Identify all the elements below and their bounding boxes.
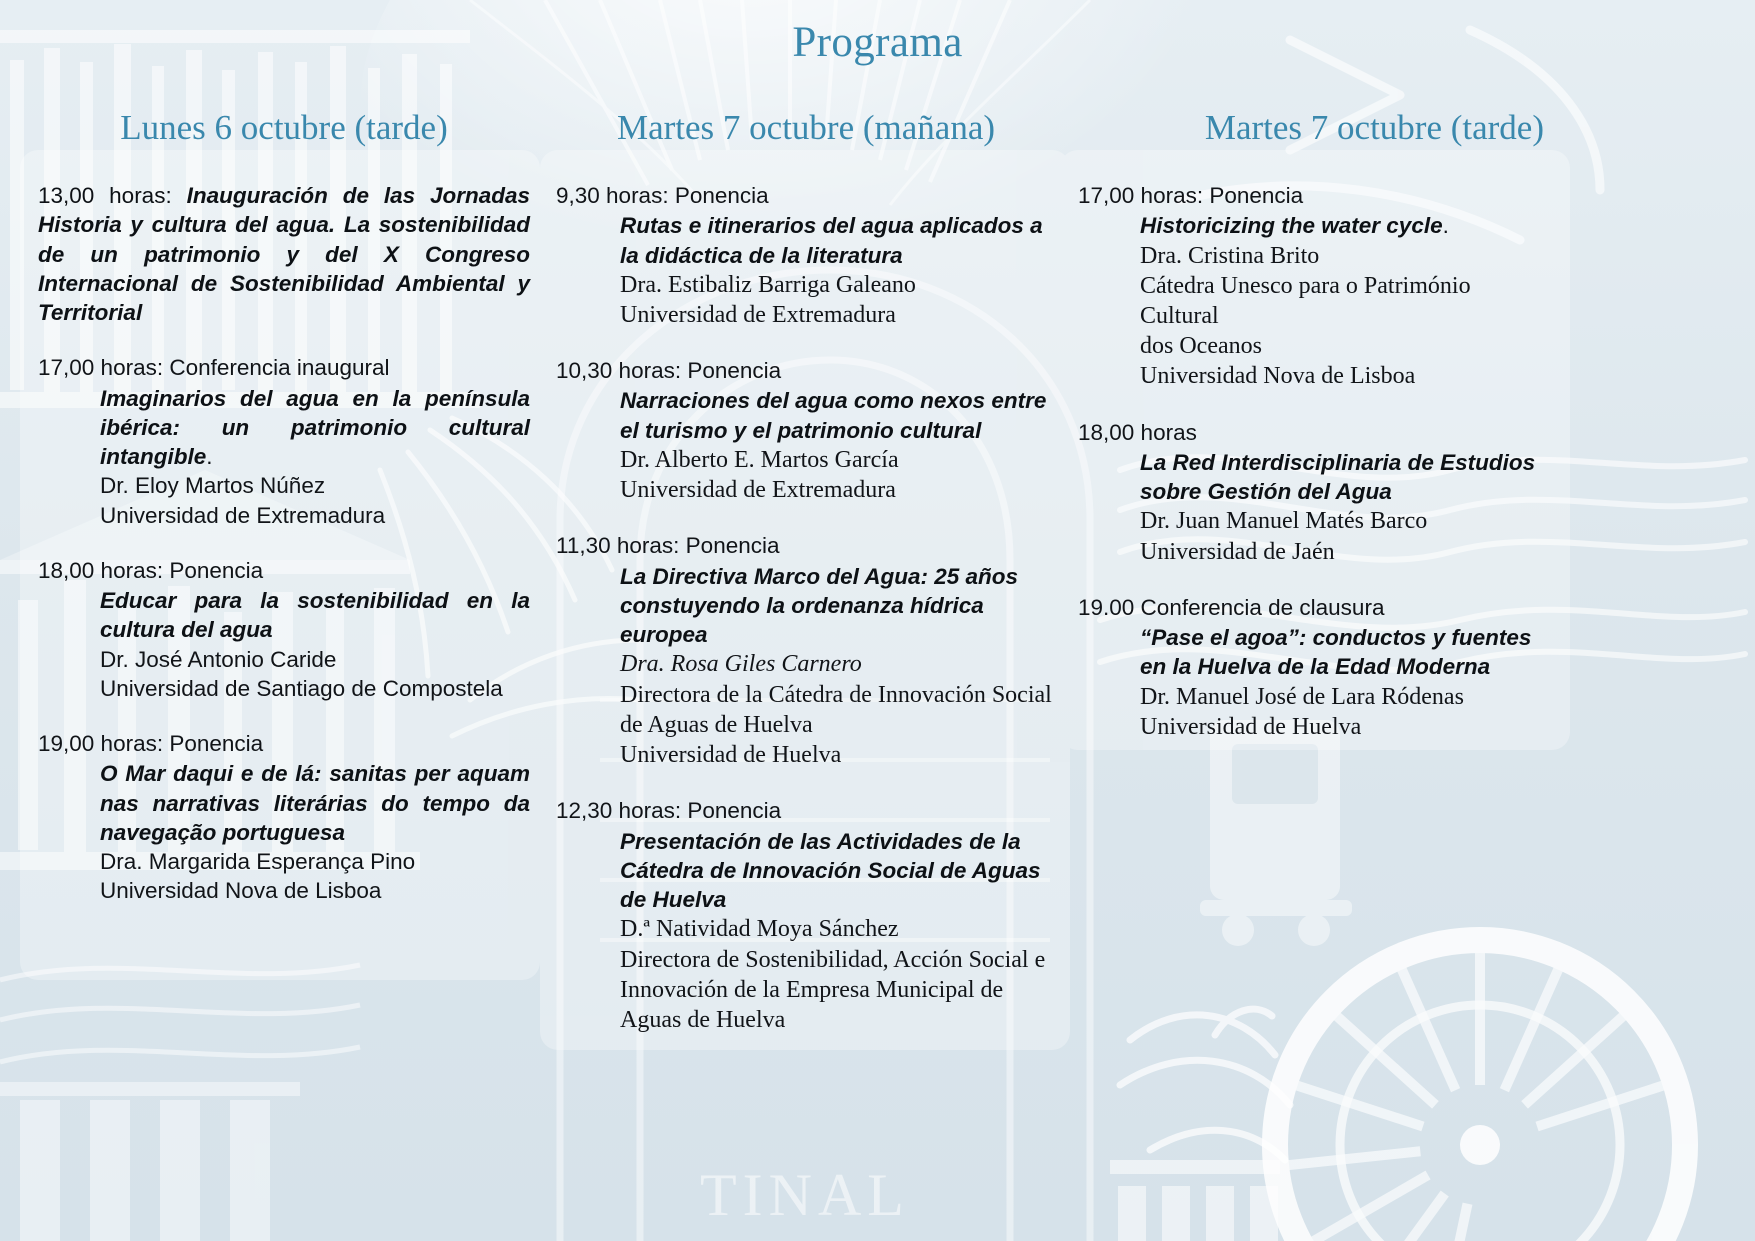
- entry-title-text: Historicizing the water cycle: [1140, 213, 1443, 238]
- entry-affiliation: Innovación de la Empresa Municipal de: [620, 975, 1056, 1005]
- entry-speaker: Dra. Rosa Giles Carnero: [620, 649, 1056, 679]
- entry-title: La Directiva Marco del Agua: 25 años con…: [620, 562, 1056, 650]
- entry-affiliation: Cátedra Unesco para o Património Cultura…: [1140, 271, 1548, 331]
- day-column-lunes-6-tarde: Lunes 6 octubre (tarde) 13,00 horas: Ina…: [38, 108, 530, 906]
- entry-affiliation: de Aguas de Huelva: [620, 710, 1056, 740]
- column-heading: Martes 7 octubre (mañana): [556, 108, 1056, 148]
- program-entry: 18,00 horas: Ponencia Educar para la sos…: [38, 556, 530, 703]
- entry-affiliation: Universidad de Extremadura: [620, 300, 1056, 330]
- entry-affiliation: Universidad de Extremadura: [100, 501, 530, 530]
- entry-body: Rutas e itinerarios del agua aplicados a…: [620, 211, 1056, 330]
- entry-title: Imaginarios del agua en la península ibé…: [100, 384, 530, 472]
- program-entry: 17,00 horas: Ponencia Historicizing the …: [1078, 181, 1548, 392]
- column-heading: Martes 7 octubre (tarde): [1078, 108, 1548, 148]
- entry-speaker: Dr. José Antonio Caride: [100, 645, 530, 674]
- entry-body: O Mar daqui e de lá: sanitas per aquam n…: [100, 759, 530, 905]
- entry-time: 10,30 horas: Ponencia: [556, 356, 1056, 385]
- entry-time: 11,30 horas: Ponencia: [556, 531, 1056, 560]
- entry-affiliation: Directora de la Cátedra de Innovación So…: [620, 680, 1056, 710]
- entry-title: 13,00 horas: Inauguración de las Jornada…: [38, 181, 530, 327]
- entry-time: 17,00 horas: Conferencia inaugural: [38, 353, 530, 382]
- entry-speaker: Dra. Estibaliz Barriga Galeano: [620, 270, 1056, 300]
- entry-title: Narraciones del agua como nexos entre el…: [620, 386, 1056, 445]
- program-poster: TINAL: [0, 0, 1755, 1241]
- entry-time: 18,00 horas: Ponencia: [38, 556, 530, 585]
- program-entry: 19,00 horas: Ponencia O Mar daqui e de l…: [38, 729, 530, 906]
- entry-affiliation: Universidad de Huelva: [620, 740, 1056, 770]
- entry-time: 18,00 horas: [1078, 418, 1548, 447]
- entry-title-text: Imaginarios del agua en la península ibé…: [100, 386, 530, 470]
- entry-body: La Red Interdisciplinaria de Estudios so…: [1140, 448, 1548, 567]
- entry-affiliation: Universidad Nova de Lisboa: [100, 876, 530, 905]
- entry-body: Imaginarios del agua en la península ibé…: [100, 384, 530, 530]
- entry-title-suffix: .: [1443, 213, 1449, 238]
- entry-speaker: Dra. Cristina Brito: [1140, 241, 1548, 271]
- entry-body: La Directiva Marco del Agua: 25 años con…: [620, 562, 1056, 771]
- program-entry: 12,30 horas: Ponencia Presentación de la…: [556, 796, 1056, 1035]
- entry-body: Educar para la sostenibilidad en la cult…: [100, 586, 530, 703]
- page-title: Programa: [0, 18, 1755, 67]
- entry-time: 19.00 Conferencia de clausura: [1078, 593, 1548, 622]
- entry-title: La Red Interdisciplinaria de Estudios so…: [1140, 448, 1548, 507]
- entry-speaker: D.ª Natividad Moya Sánchez: [620, 914, 1056, 944]
- program-entry: 13,00 horas: Inauguración de las Jornada…: [38, 181, 530, 327]
- program-entry: 19.00 Conferencia de clausura “Pase el a…: [1078, 593, 1548, 742]
- entry-affiliation: Aguas de Huelva: [620, 1005, 1056, 1035]
- entry-speaker: Dr. Manuel José de Lara Ródenas: [1140, 682, 1548, 712]
- entry-affiliation: Universidad de Jaén: [1140, 537, 1548, 567]
- entry-affiliation: Universidad de Huelva: [1140, 712, 1548, 742]
- entry-title: Historicizing the water cycle.: [1140, 211, 1548, 240]
- entry-affiliation: Directora de Sostenibilidad, Acción Soci…: [620, 945, 1056, 975]
- entry-speaker: Dr. Eloy Martos Núñez: [100, 471, 530, 500]
- day-column-martes-7-manana: Martes 7 octubre (mañana) 9,30 horas: Po…: [556, 108, 1056, 1035]
- column-heading: Lunes 6 octubre (tarde): [38, 108, 530, 148]
- entry-affiliation: dos Oceanos: [1140, 331, 1548, 361]
- program-entry: 11,30 horas: Ponencia La Directiva Marco…: [556, 531, 1056, 770]
- entry-title-text: Historia y cultura del agua. La sostenib…: [38, 212, 530, 325]
- entry-body: Narraciones del agua como nexos entre el…: [620, 386, 1056, 505]
- entry-title: Presentación de las Actividades de la Cá…: [620, 827, 1056, 915]
- entry-speaker: Dr. Juan Manuel Matés Barco: [1140, 506, 1548, 536]
- entry-time: 19,00 horas: Ponencia: [38, 729, 530, 758]
- entry-title: “Pase el agoa”: conductos y fuentes en l…: [1140, 623, 1548, 682]
- program-entry: 18,00 horas La Red Interdisciplinaria de…: [1078, 418, 1548, 567]
- entry-time: 17,00 horas: Ponencia: [1078, 181, 1548, 210]
- program-entry: 9,30 horas: Ponencia Rutas e itinerarios…: [556, 181, 1056, 330]
- entry-title-suffix: .: [206, 444, 212, 469]
- entry-title: Educar para la sostenibilidad en la cult…: [100, 586, 530, 645]
- entry-time: 9,30 horas: Ponencia: [556, 181, 1056, 210]
- entry-speaker: Dra. Margarida Esperança Pino: [100, 847, 530, 876]
- entry-title: Rutas e itinerarios del agua aplicados a…: [620, 211, 1056, 270]
- entry-time: 12,30 horas: Ponencia: [556, 796, 1056, 825]
- entry-title: O Mar daqui e de lá: sanitas per aquam n…: [100, 759, 530, 847]
- program-entry: 17,00 horas: Conferencia inaugural Imagi…: [38, 353, 530, 530]
- day-column-martes-7-tarde: Martes 7 octubre (tarde) 17,00 horas: Po…: [1078, 108, 1548, 742]
- entry-affiliation: Universidad de Extremadura: [620, 475, 1056, 505]
- entry-affiliation: Universidad Nova de Lisboa: [1140, 361, 1548, 391]
- entry-body: “Pase el agoa”: conductos y fuentes en l…: [1140, 623, 1548, 742]
- entry-speaker: Dr. Alberto E. Martos García: [620, 445, 1056, 475]
- entry-kind: Inauguración de las Jornadas: [187, 183, 530, 208]
- entry-body: Presentación de las Actividades de la Cá…: [620, 827, 1056, 1036]
- entry-body: Historicizing the water cycle. Dra. Cris…: [1140, 211, 1548, 391]
- entry-affiliation: Universidad de Santiago de Compostela: [100, 674, 530, 703]
- program-entry: 10,30 horas: Ponencia Narraciones del ag…: [556, 356, 1056, 505]
- entry-time: 13,00 horas:: [38, 183, 172, 208]
